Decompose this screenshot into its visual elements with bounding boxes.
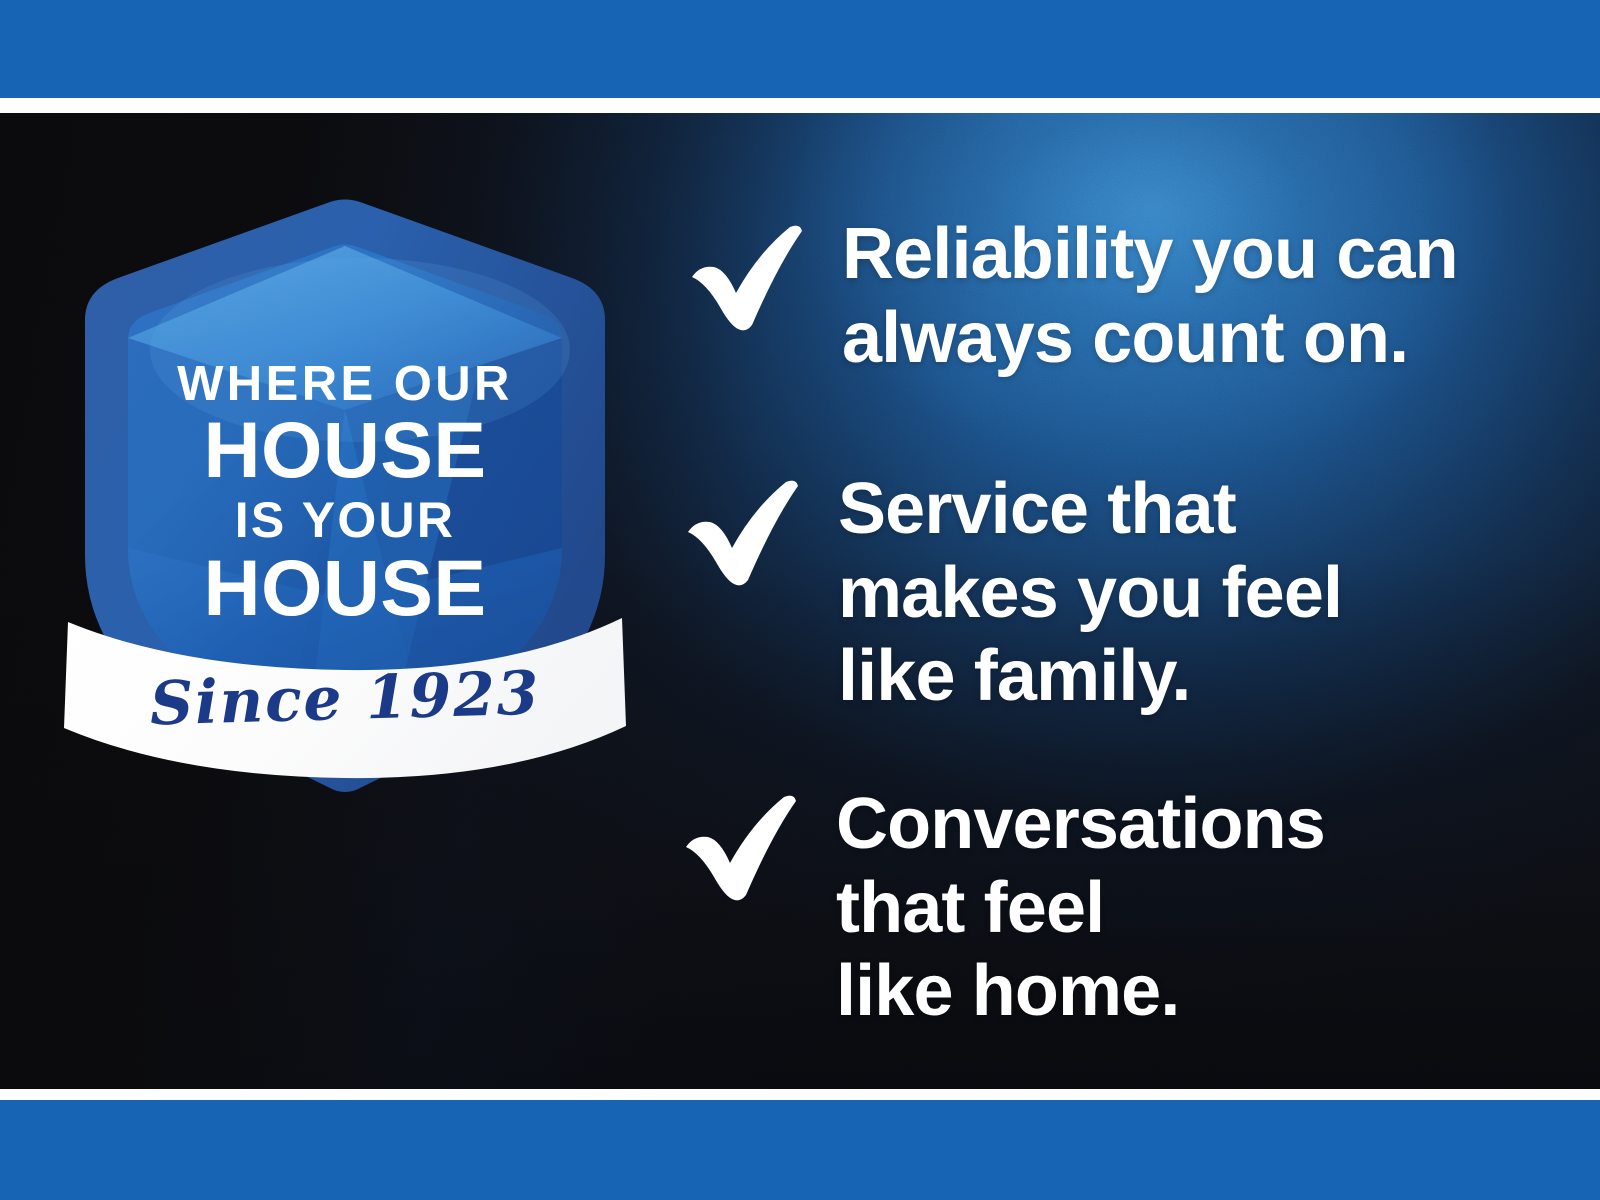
benefits-list: Reliability you can always count on. Ser… bbox=[672, 113, 1552, 1089]
promo-banner: Where Our House Is Your House Since 1923… bbox=[0, 0, 1600, 1200]
shield-badge: Where Our House Is Your House Since 1923 bbox=[60, 170, 630, 810]
check-icon bbox=[686, 221, 806, 333]
check-icon bbox=[682, 476, 802, 588]
benefit-text-2: Service that makes you feel like family. bbox=[838, 468, 1342, 719]
top-brand-bar bbox=[0, 0, 1600, 98]
list-item: Service that makes you feel like family. bbox=[682, 468, 1342, 719]
benefit-text-3: Conversations that feel like home. bbox=[836, 783, 1325, 1034]
check-icon bbox=[680, 791, 800, 903]
benefit-text-1: Reliability you can always count on. bbox=[842, 213, 1458, 380]
list-item: Reliability you can always count on. bbox=[686, 213, 1458, 380]
bottom-brand-bar bbox=[0, 1100, 1600, 1200]
shield-graphic bbox=[60, 170, 630, 810]
shield-sheen bbox=[150, 258, 570, 442]
list-item: Conversations that feel like home. bbox=[680, 783, 1325, 1034]
